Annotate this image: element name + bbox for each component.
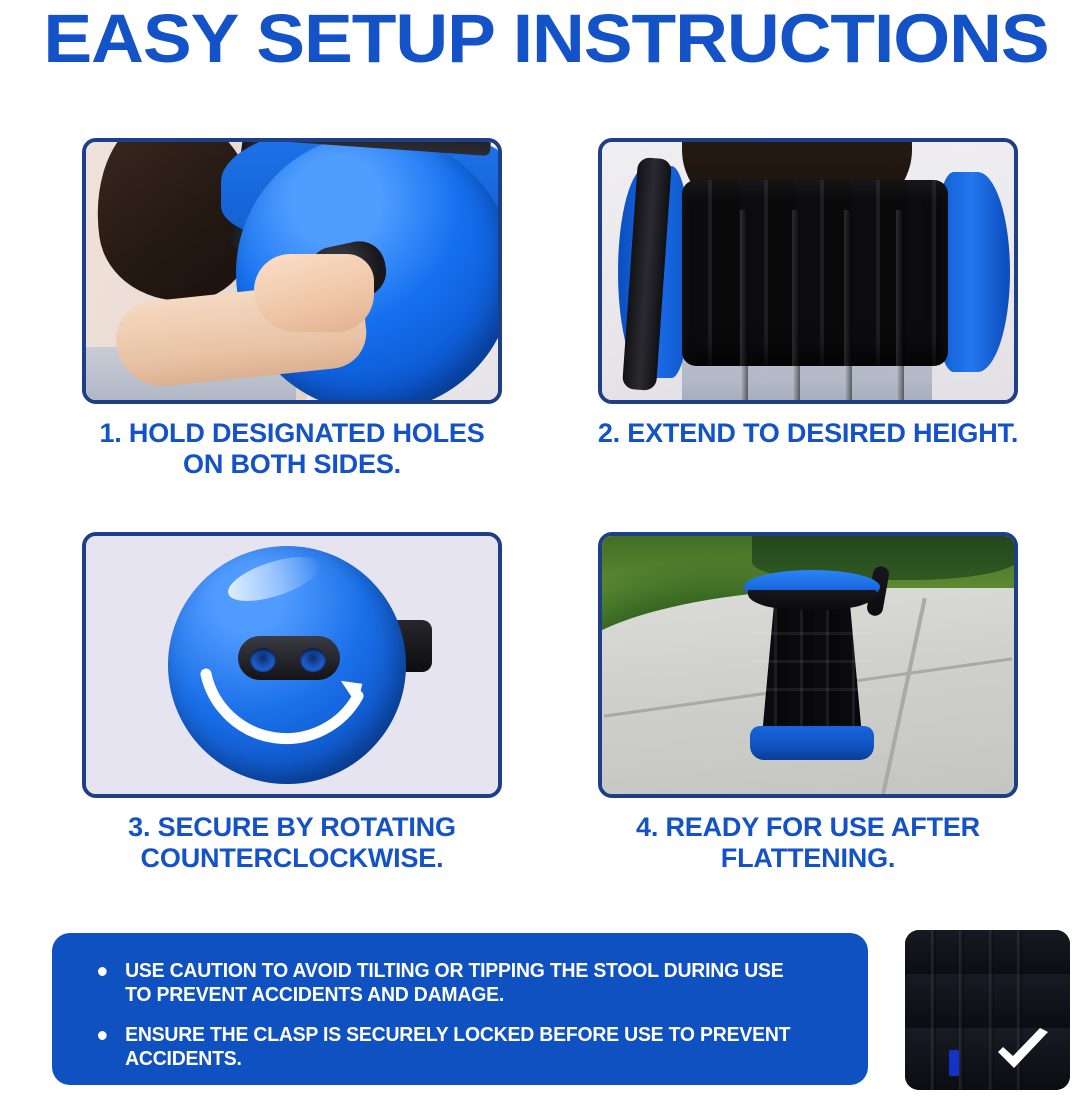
segment-band bbox=[905, 974, 1070, 1036]
step-3: 3. SECURE BY ROTATING COUNTERCLOCKWISE. bbox=[82, 532, 502, 874]
person-hand bbox=[254, 254, 374, 332]
blue-accent bbox=[949, 1050, 959, 1076]
segment-rib bbox=[959, 930, 964, 1090]
step-2: 2. EXTEND TO DESIRED HEIGHT. bbox=[598, 138, 1018, 449]
stool-base bbox=[750, 726, 874, 760]
warning-box: USE CAUTION TO AVOID TILTING OR TIPPING … bbox=[52, 933, 868, 1085]
bullet-icon bbox=[98, 967, 107, 976]
step-1: 1. HOLD DESIGNATED HOLES ON BOTH SIDES. bbox=[82, 138, 502, 480]
segment-ring bbox=[844, 210, 852, 404]
segment-ring bbox=[896, 210, 904, 404]
segment-rib bbox=[931, 930, 936, 1090]
segment-ring bbox=[792, 210, 800, 404]
step-1-caption: 1. HOLD DESIGNATED HOLES ON BOTH SIDES. bbox=[78, 418, 506, 480]
rotate-counterclockwise-arrow-icon bbox=[168, 546, 406, 784]
page-title: EASY SETUP INSTRUCTIONS bbox=[0, 0, 1092, 80]
warning-item: USE CAUTION TO AVOID TILTING OR TIPPING … bbox=[96, 959, 806, 1007]
warning-item: ENSURE THE CLASP IS SECURELY LOCKED BEFO… bbox=[96, 1023, 806, 1071]
check-mark-icon bbox=[994, 1028, 1052, 1074]
step-4-photo bbox=[598, 532, 1018, 798]
step-2-photo bbox=[598, 138, 1018, 404]
step-1-photo bbox=[82, 138, 502, 404]
segment-ring bbox=[740, 210, 748, 404]
warning-text: ENSURE THE CLASP IS SECURELY LOCKED BEFO… bbox=[125, 1024, 790, 1070]
warning-list: USE CAUTION TO AVOID TILTING OR TIPPING … bbox=[52, 933, 868, 1071]
step-4-caption: 4. READY FOR USE AFTER FLATTENING. bbox=[594, 812, 1022, 874]
product-thumbnail bbox=[905, 930, 1070, 1090]
stool-extended-body bbox=[682, 180, 948, 366]
segment-line bbox=[752, 660, 872, 663]
step-4: 4. READY FOR USE AFTER FLATTENING. bbox=[598, 532, 1018, 874]
segment-line bbox=[752, 632, 872, 635]
step-3-photo bbox=[82, 532, 502, 798]
bullet-icon bbox=[98, 1031, 107, 1040]
steps-grid: 1. HOLD DESIGNATED HOLES ON BOTH SIDES. … bbox=[0, 120, 1092, 910]
step-3-caption: 3. SECURE BY ROTATING COUNTERCLOCKWISE. bbox=[78, 812, 506, 874]
step-2-caption: 2. EXTEND TO DESIRED HEIGHT. bbox=[594, 418, 1022, 449]
warning-text: USE CAUTION TO AVOID TILTING OR TIPPING … bbox=[125, 960, 783, 1006]
stool-column bbox=[762, 604, 862, 736]
segment-line bbox=[752, 688, 872, 691]
